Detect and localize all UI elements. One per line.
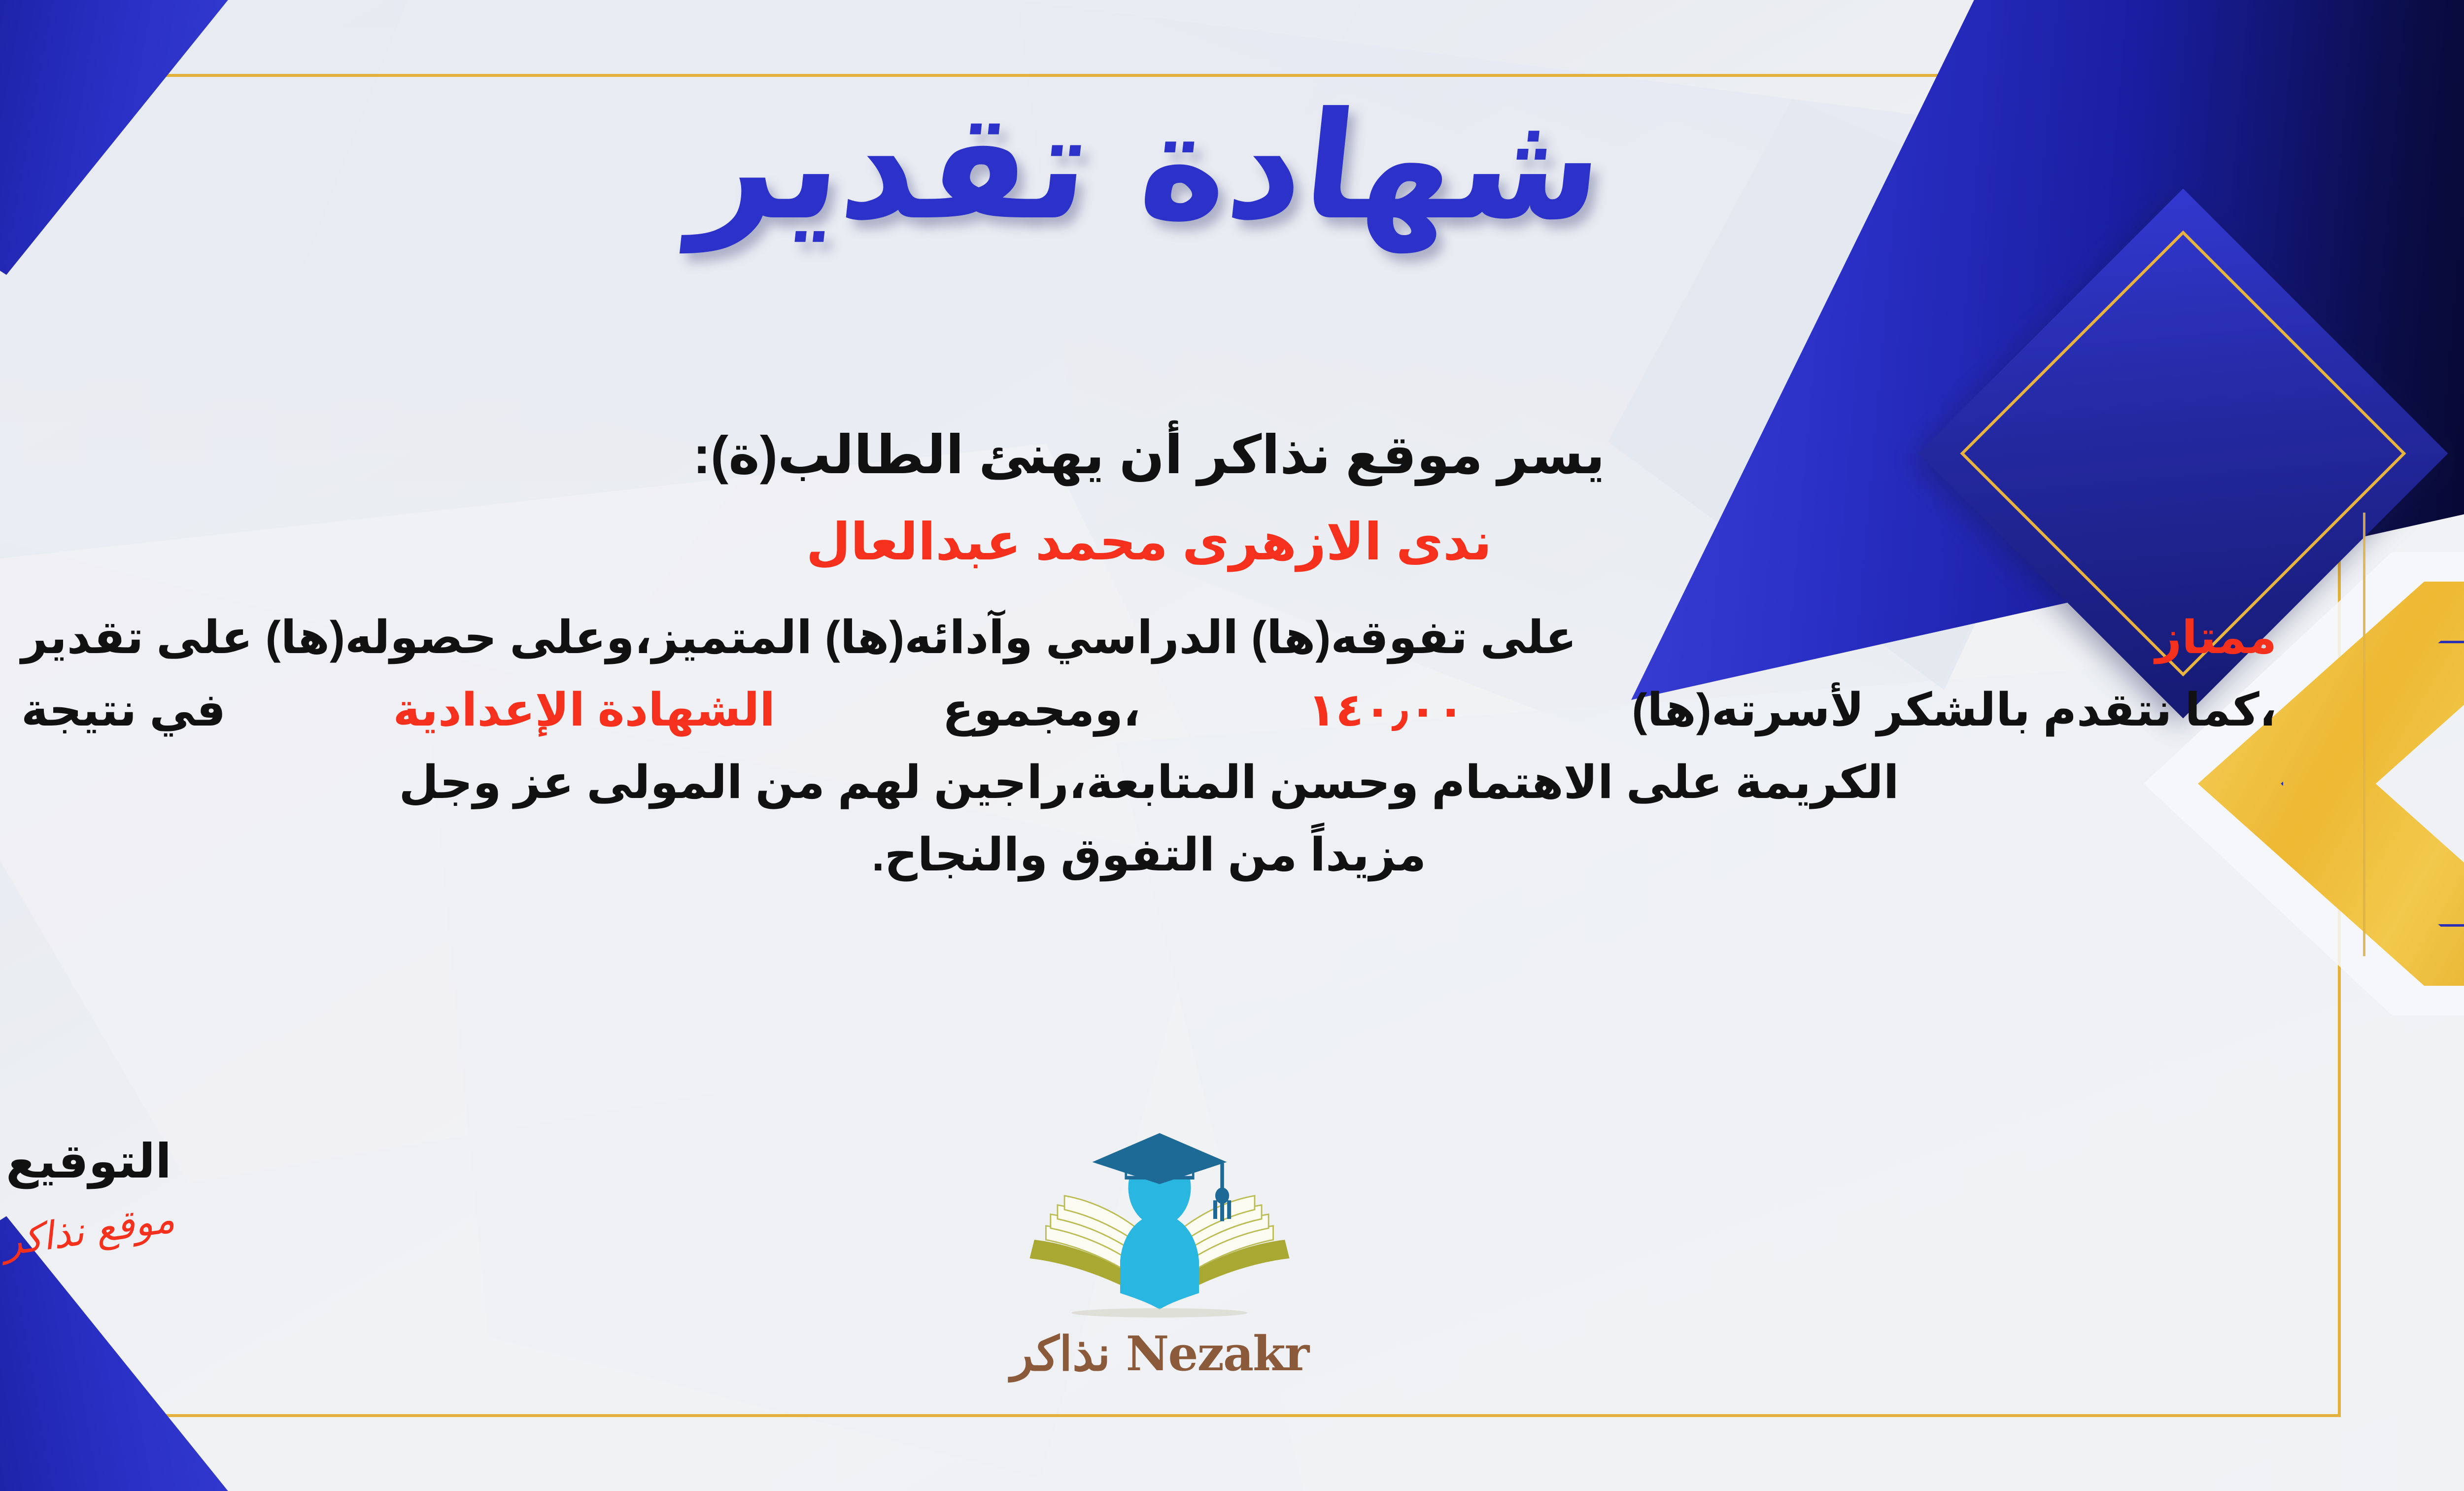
gold-vertical-rule-right [2363,513,2365,956]
logo-svg [972,1124,1347,1321]
exam-name: الشهادة الإعدادية [393,674,776,746]
intro-line: يسر موقع نذاكر أن يهنئ الطالب(ة): [21,424,2277,486]
result-prefix: في نتيجة [21,674,226,746]
paragraph-line-3: الكريمة على الاهتمام وحسن المتابعة،راجين… [21,746,2277,819]
signature-block: التوقيع موقع نذاكر [0,1134,261,1253]
family-thanks-text: ،كما نتقدم بالشكر لأسرته(ها) [1632,674,2277,746]
certificate-title-area: شهادة تقدير [0,89,2464,244]
student-name: ندى الازهرى محمد عبدالعال [21,512,2277,572]
signature-label: التوقيع [0,1134,261,1189]
logo-wordmark: Nezakr نذاكر [972,1326,1347,1382]
paragraph-line-2: ،كما نتقدم بالشكر لأسرته(ها) ١٤٠٫٠٠ ،ومج… [21,674,2277,746]
graduate-book-icon [972,1124,1347,1321]
total-value: ١٤٠٫٠٠ [1308,674,1465,746]
book-shadow [1071,1308,1248,1318]
site-logo: Nezakr نذاكر [972,1124,1347,1382]
paragraph-line-4: مزيداً من التفوق والنجاح. [21,819,2277,891]
certificate-page: شهادة تقدير يسر موقع نذاكر أن يهنئ الطال… [0,0,2464,1491]
certificate-body: يسر موقع نذاكر أن يهنئ الطالب(ة): ندى ال… [21,424,2277,891]
certificate-title: شهادة تقدير [687,89,1611,244]
award-paragraph: ممتاز على تفوقه(ها) الدراسي وآدائه(ها) ا… [21,601,2277,891]
cap-top [1093,1133,1227,1184]
grade-value: ممتاز [2156,601,2277,674]
total-label: ،ومجموع [942,674,1140,746]
paragraph-line-1-text: على تفوقه(ها) الدراسي وآدائه(ها) المتميز… [21,601,1576,674]
paragraph-line-1: ممتاز على تفوقه(ها) الدراسي وآدائه(ها) ا… [21,601,2277,674]
